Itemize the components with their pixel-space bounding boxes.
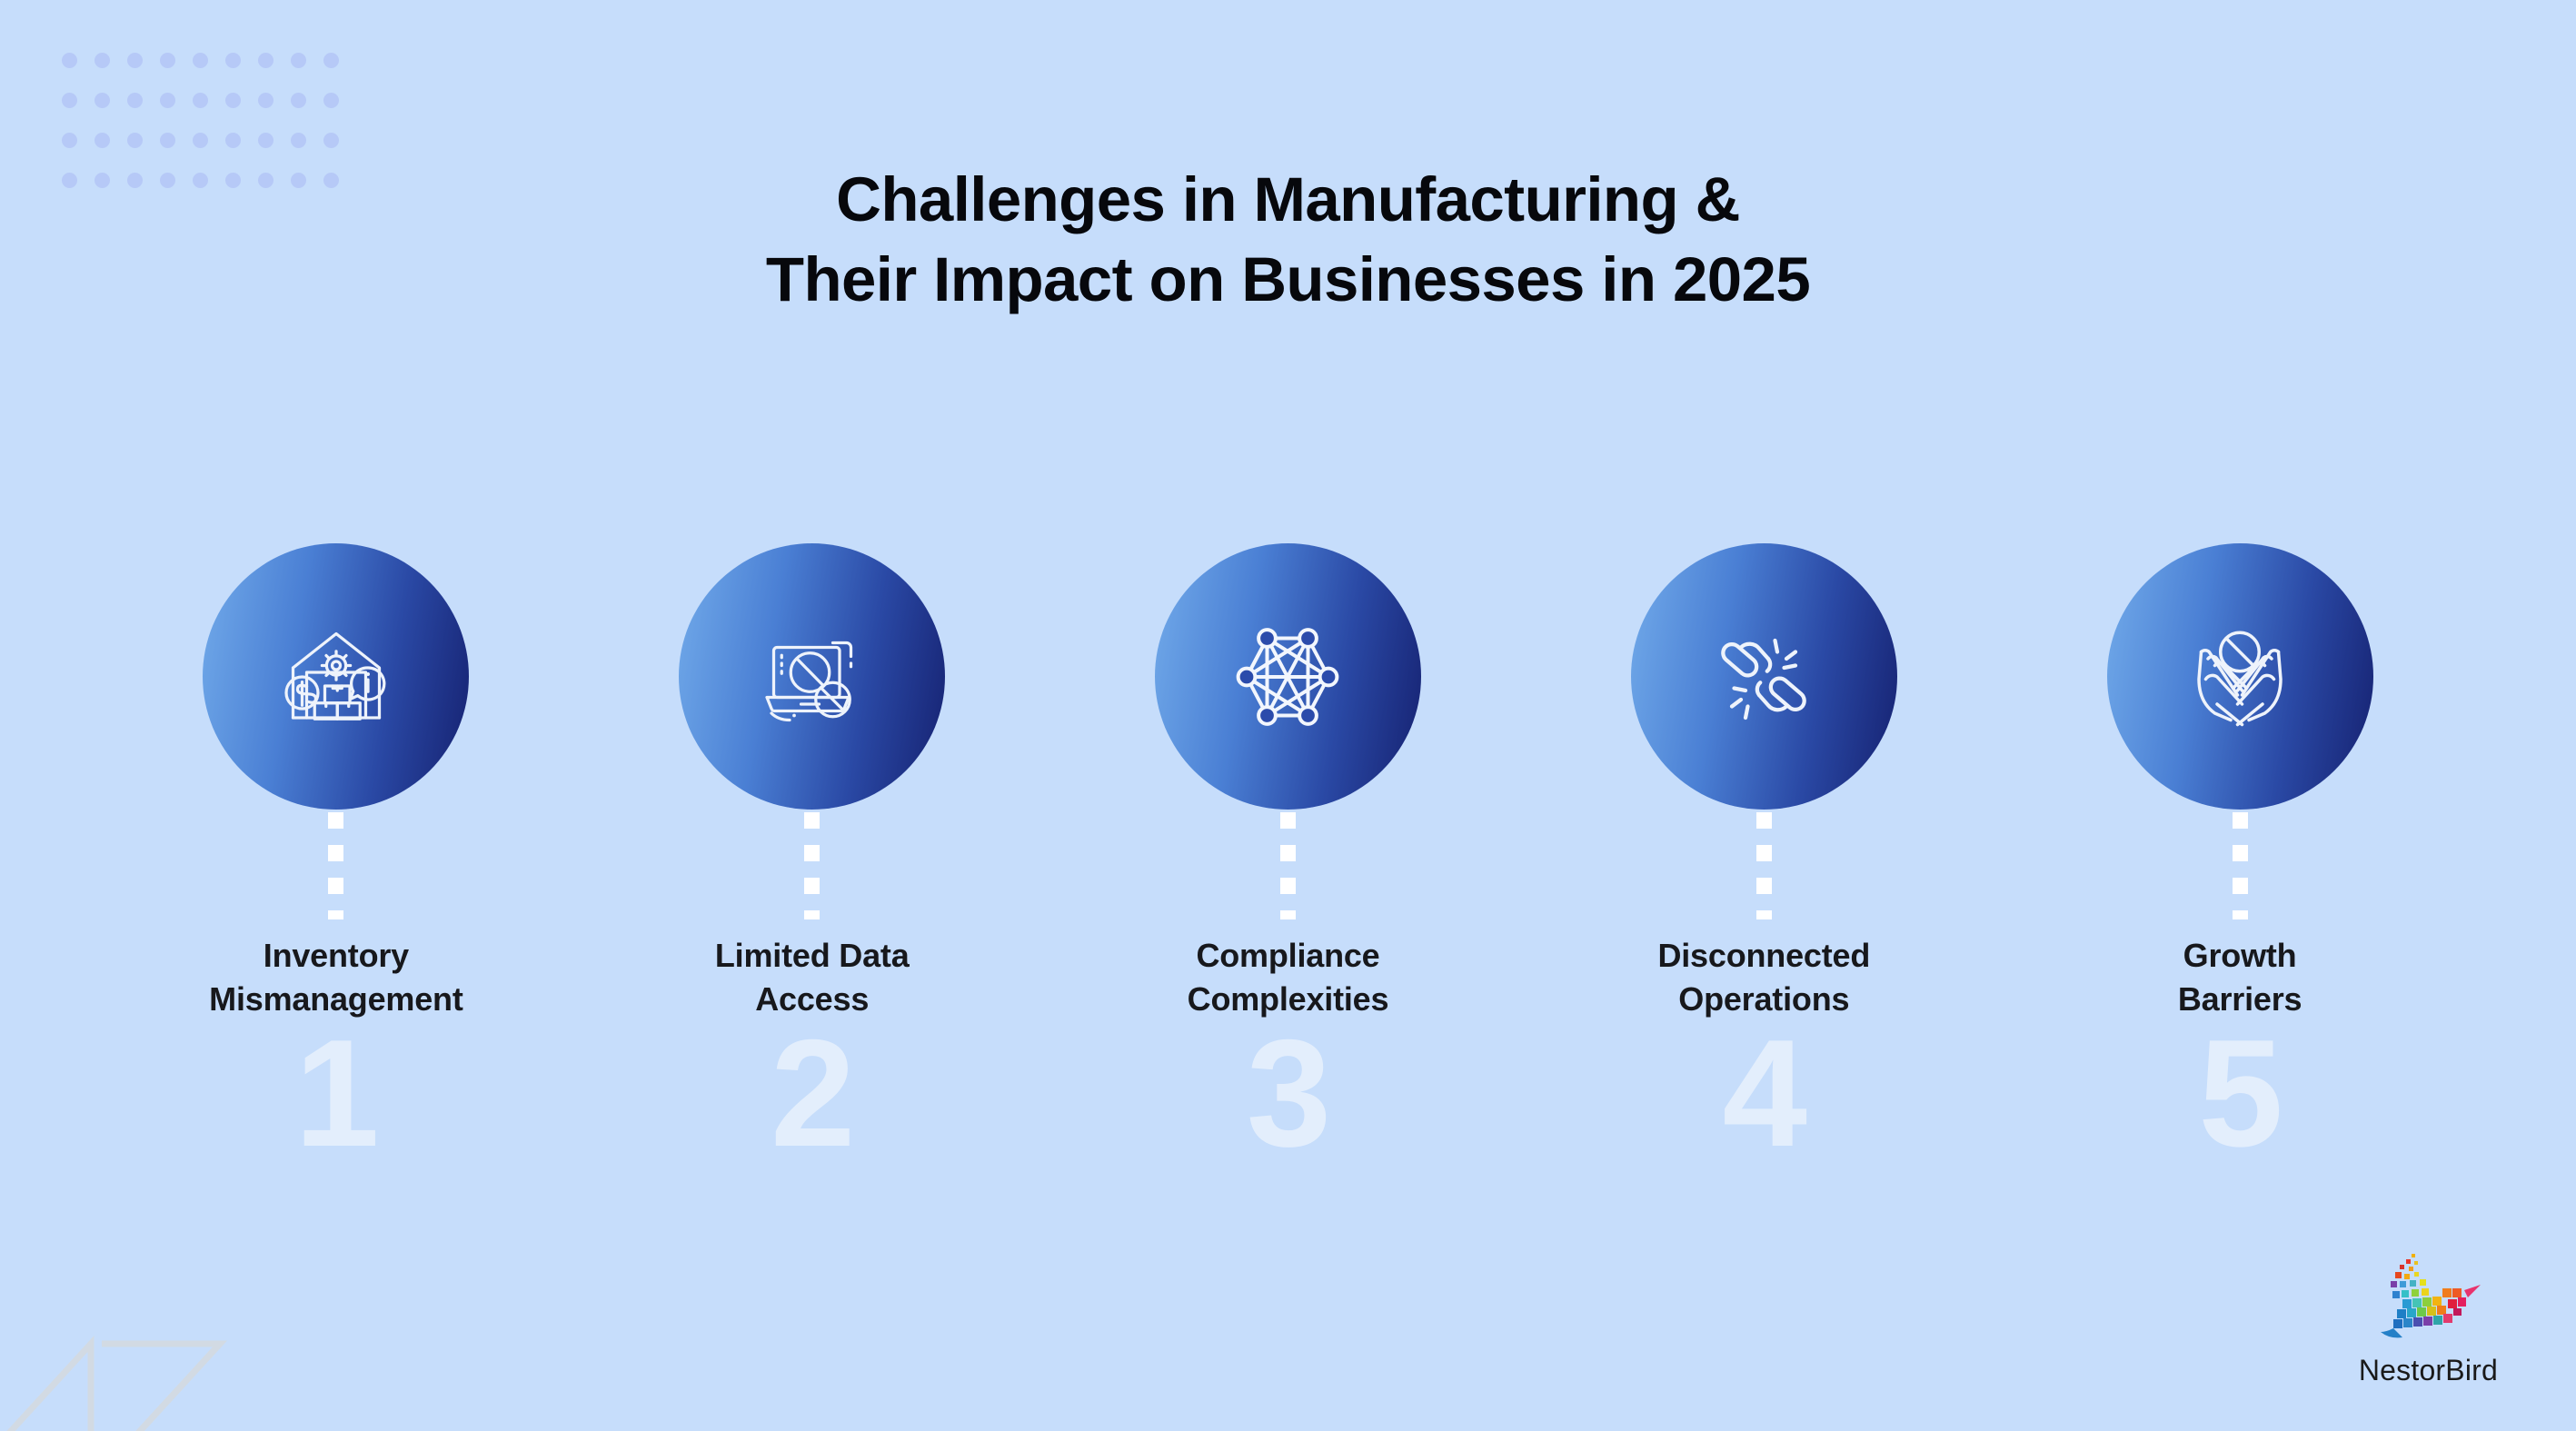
dot	[94, 133, 110, 148]
challenge-connector-3	[1280, 812, 1296, 919]
dot	[291, 133, 306, 148]
challenge-number-3: 3	[1247, 1017, 1329, 1169]
challenge-label-4-line-1: Disconnected	[1657, 937, 1870, 974]
challenge-number-5: 5	[2198, 1017, 2281, 1169]
dot	[291, 93, 306, 108]
dot	[94, 93, 110, 108]
pixel-bird-logo-icon	[2370, 1252, 2486, 1345]
challenge-label-2-line-1: Limited Data	[715, 937, 910, 974]
challenge-number-4: 4	[1723, 1017, 1805, 1169]
page-title-line-1: Challenges in Manufacturing &	[0, 160, 2576, 240]
page-title: Challenges in Manufacturing & Their Impa…	[0, 160, 2576, 321]
dot	[160, 93, 175, 108]
dot	[193, 93, 208, 108]
challenge-connector-4	[1756, 812, 1772, 919]
brand-logo[interactable]: NestorBird	[2359, 1252, 2498, 1387]
dot	[160, 133, 175, 148]
warehouse-gear-boxes-icon	[268, 609, 404, 745]
challenge-badge-4[interactable]	[1631, 543, 1897, 810]
dot	[62, 53, 77, 68]
challenge-badge-3[interactable]	[1155, 543, 1421, 810]
dot	[127, 133, 143, 148]
dot	[323, 93, 339, 108]
dot	[323, 133, 339, 148]
dot	[291, 53, 306, 68]
dot	[160, 53, 175, 68]
dot	[62, 93, 77, 108]
dot	[258, 133, 274, 148]
dot	[193, 53, 208, 68]
challenge-label-1-line-1: Inventory	[264, 937, 409, 974]
challenge-badge-1[interactable]	[203, 543, 469, 810]
dot	[323, 53, 339, 68]
brand-name: NestorBird	[2359, 1354, 2498, 1387]
dot	[258, 53, 274, 68]
page-title-line-2: Their Impact on Businesses in 2025	[0, 240, 2576, 320]
challenge-list: Inventory Mismanagement 1	[98, 543, 2478, 1169]
dot	[127, 93, 143, 108]
challenge-item-4[interactable]: Disconnected Operations 4	[1526, 543, 2002, 1169]
challenge-item-1[interactable]: Inventory Mismanagement 1	[98, 543, 574, 1169]
dot	[225, 53, 241, 68]
laptop-blocked-access-icon	[744, 609, 880, 745]
challenge-label-5-line-1: Growth	[2183, 937, 2297, 974]
challenge-item-2[interactable]: Limited Data Access 2	[574, 543, 1050, 1169]
challenge-badge-5[interactable]	[2107, 543, 2373, 810]
challenge-badge-2[interactable]	[679, 543, 945, 810]
challenge-number-2: 2	[771, 1017, 853, 1169]
dot	[94, 53, 110, 68]
nz-outline-watermark	[0, 1291, 264, 1431]
challenge-connector-1	[328, 812, 343, 919]
dot	[258, 93, 274, 108]
challenge-item-3[interactable]: Compliance Complexities 3	[1050, 543, 1527, 1169]
challenge-label-3-line-1: Compliance	[1196, 937, 1379, 974]
dot	[62, 133, 77, 148]
network-mesh-icon	[1219, 609, 1356, 745]
broken-chain-link-icon	[1696, 609, 1832, 745]
crossed-hands-blocked-icon	[2172, 609, 2308, 745]
dot	[225, 133, 241, 148]
challenge-item-5[interactable]: Growth Barriers 5	[2002, 543, 2478, 1169]
challenge-connector-2	[804, 812, 820, 919]
dot	[127, 53, 143, 68]
dot	[193, 133, 208, 148]
challenge-number-1: 1	[294, 1017, 377, 1169]
dot	[225, 93, 241, 108]
challenge-connector-5	[2233, 812, 2248, 919]
